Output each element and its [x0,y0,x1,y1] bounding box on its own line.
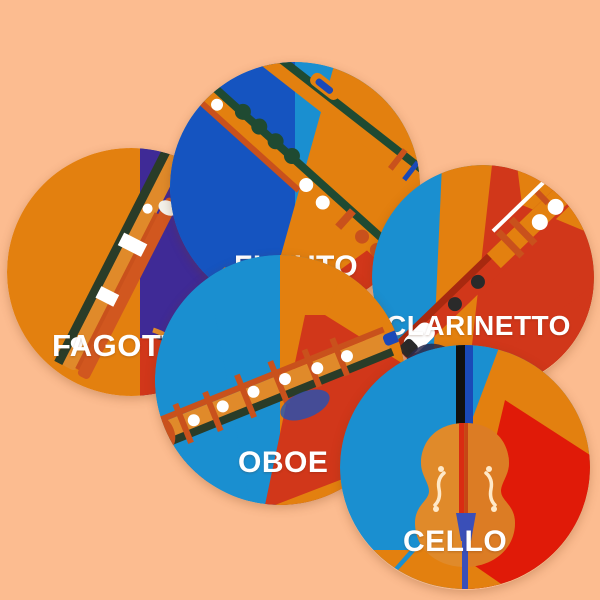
badge-label-oboe: OBOE [238,448,328,478]
badge-label-clarinetto: CLARINETTO [386,312,571,340]
badge-label-cello: CELLO [403,527,507,557]
poster-canvas: FAGOTTO [0,0,600,600]
